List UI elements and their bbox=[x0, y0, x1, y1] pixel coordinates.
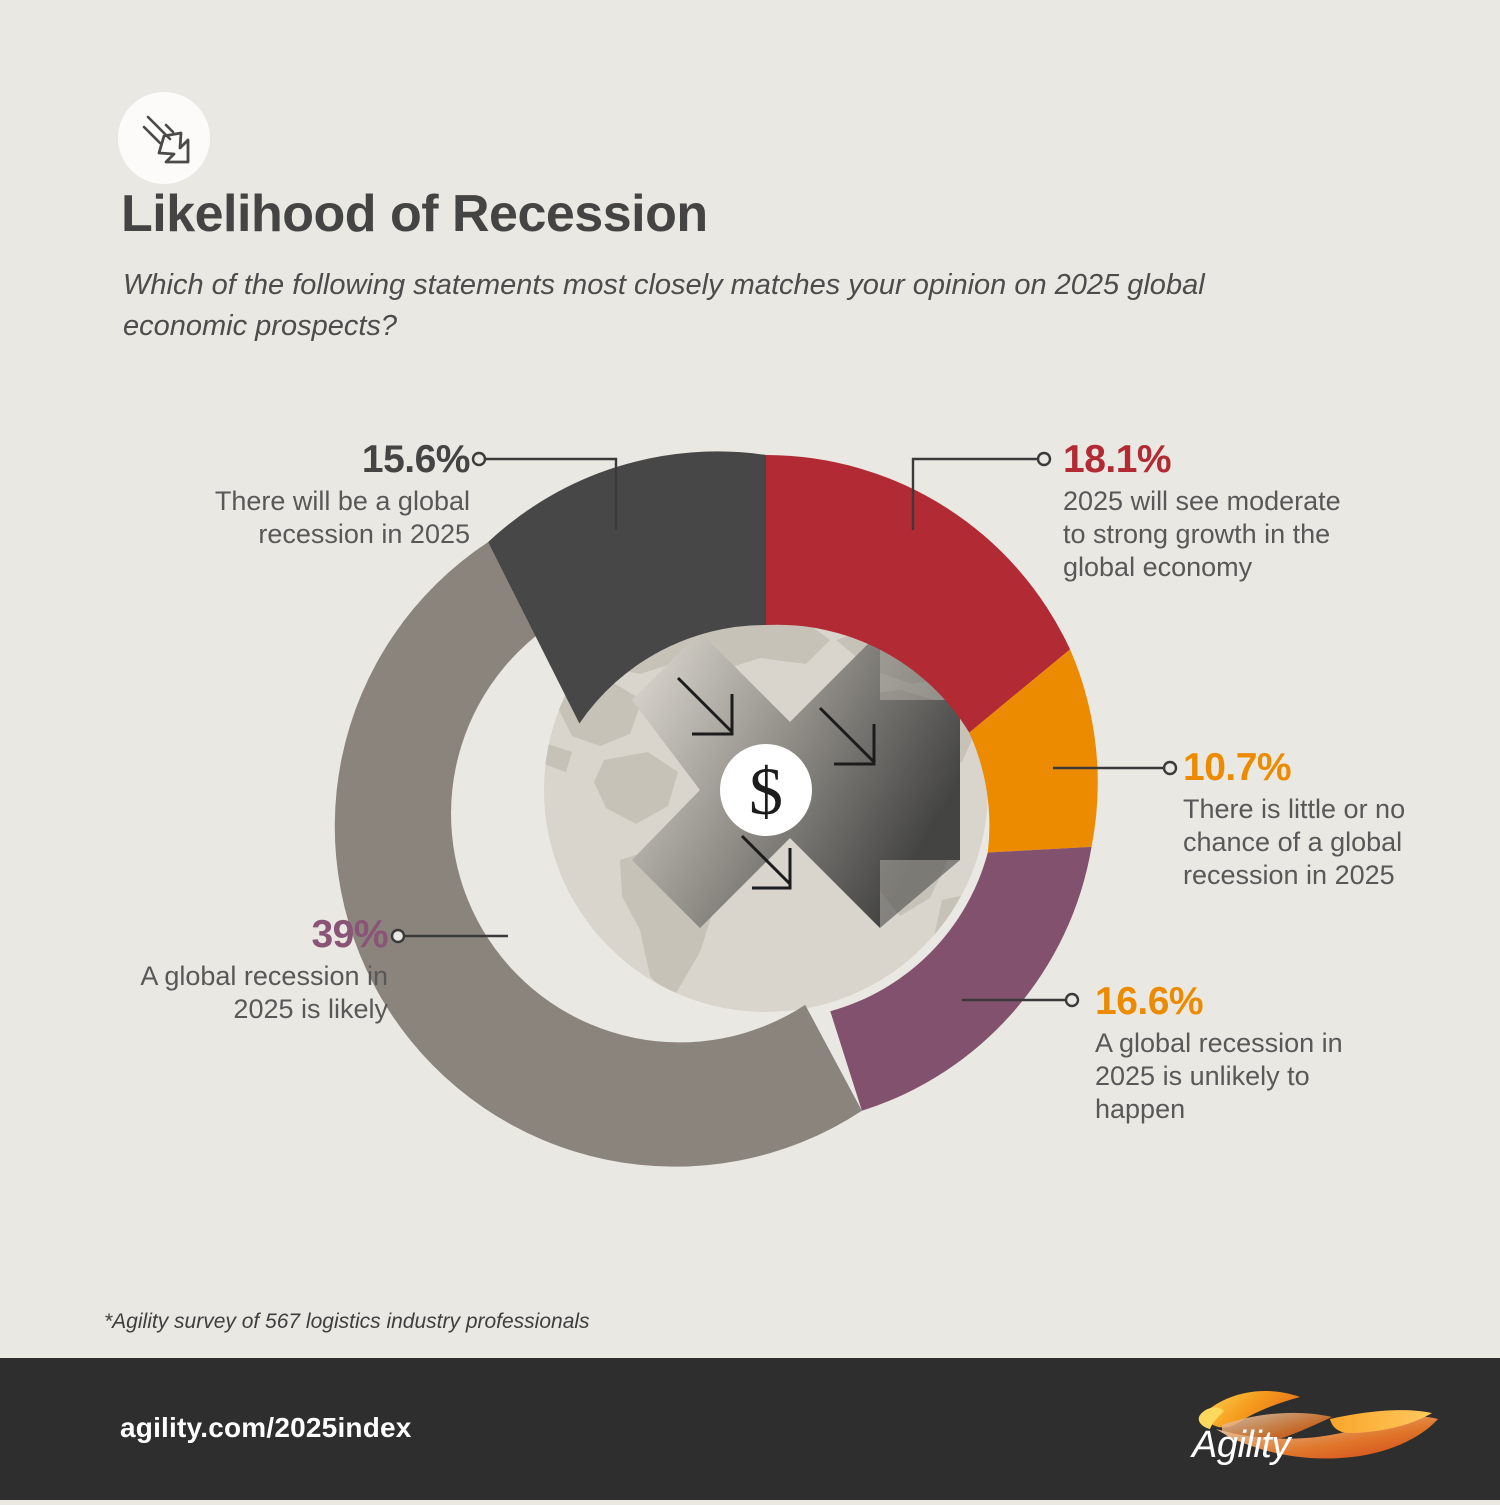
callout-percent: 16.6% bbox=[1095, 982, 1345, 1023]
infographic-canvas: Likelihood of Recession Which of the fol… bbox=[0, 0, 1500, 1500]
callout-description: There is little or no chance of a global… bbox=[1183, 793, 1443, 892]
callout-percent: 39% bbox=[120, 915, 388, 956]
agility-logo-text: Agility bbox=[1192, 1424, 1290, 1467]
footer-url[interactable]: agility.com/2025index bbox=[120, 1412, 412, 1444]
callout-percent: 15.6% bbox=[150, 440, 470, 481]
callout-description: There will be a global recession in 2025 bbox=[150, 485, 470, 551]
callout-recession-likely: 39% A global recession in 2025 is likely bbox=[120, 915, 388, 1026]
dollar-symbol: $ bbox=[749, 753, 783, 829]
callout-recession-will-be: 15.6% There will be a global recession i… bbox=[150, 440, 470, 551]
survey-footnote: *Agility survey of 567 logistics industr… bbox=[104, 1310, 590, 1334]
callout-description: 2025 will see moderate to strong growth … bbox=[1063, 485, 1363, 584]
callout-moderate-growth: 18.1% 2025 will see moderate to strong g… bbox=[1063, 440, 1363, 584]
callout-description: A global recession in 2025 is likely bbox=[120, 960, 388, 1026]
callout-percent: 10.7% bbox=[1183, 748, 1443, 789]
callout-description: A global recession in 2025 is unlikely t… bbox=[1095, 1027, 1345, 1126]
callout-unlikely-happen: 16.6% A global recession in 2025 is unli… bbox=[1095, 982, 1345, 1126]
callout-percent: 18.1% bbox=[1063, 440, 1363, 481]
callout-little-no-chance: 10.7% There is little or no chance of a … bbox=[1183, 748, 1443, 892]
